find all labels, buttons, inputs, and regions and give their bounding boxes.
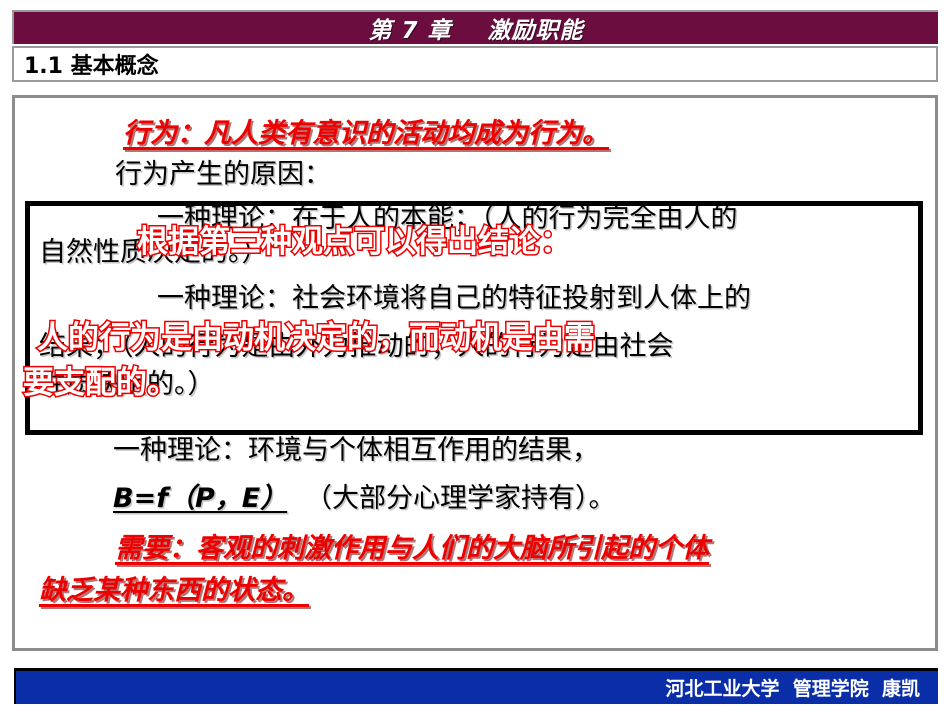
slide-subtitle-bar: 1.1 基本概念 [12,46,938,82]
red-overlay-layer: 根据第三种观点可以得出结论： 人的行为是由动机决定的，而动机是由需 要支配的。 [15,98,935,648]
slide-title: 第 7 章 激励职能 [368,11,583,45]
slide-title-bar: 第 7 章 激励职能 [12,10,938,44]
slide-root: 第 7 章 激励职能 1.1 基本概念 行为：凡人类有意识的活动均成为行为。 行… [0,0,950,713]
overlay-line-3: 要支配的。 [23,366,178,400]
overlay-line-2: 人的行为是由动机决定的，而动机是由需 [37,321,595,355]
overlay-line-1: 根据第三种观点可以得出结论： [137,225,571,259]
slide-subtitle: 1.1 基本概念 [14,48,159,80]
footer-attribution: 河北工业大学 管理学院 康凯 [666,674,938,701]
slide-footer-bar: 河北工业大学 管理学院 康凯 [14,668,938,704]
slide-content-frame: 行为：凡人类有意识的活动均成为行为。 行为产生的原因： 一种理论：在于人的本能；… [12,95,938,651]
